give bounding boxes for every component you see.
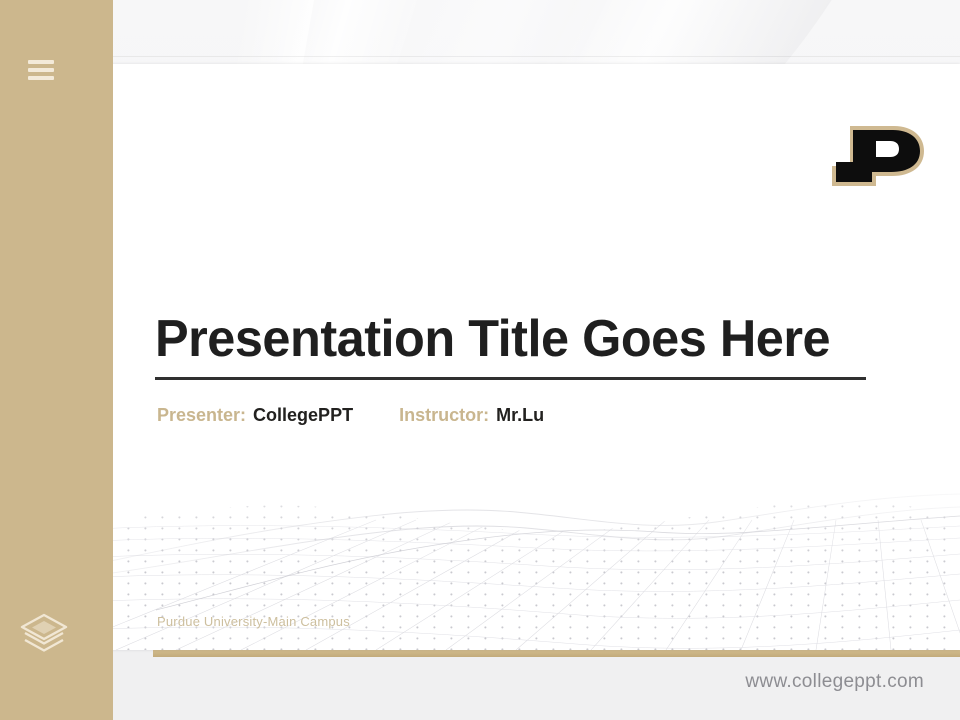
left-sidebar	[0, 0, 113, 720]
hamburger-bar-2	[28, 68, 54, 72]
presenter-label: Presenter:	[157, 405, 246, 426]
layers-stack-icon[interactable]	[18, 610, 70, 658]
title-underline	[155, 377, 866, 380]
purdue-p-logo	[820, 120, 930, 192]
hamburger-bar-3	[28, 76, 54, 80]
campus-note: Purdue University-Main Campus	[157, 614, 350, 629]
presenter-value: CollegePPT	[253, 405, 353, 426]
instructor-value: Mr.Lu	[496, 405, 544, 426]
hamburger-bar-1	[28, 60, 54, 64]
hamburger-menu-icon[interactable]	[28, 60, 54, 80]
page-title: Presentation Title Goes Here	[155, 309, 892, 369]
instructor-label: Instructor:	[399, 405, 489, 426]
slide-meta-row: Presenter: CollegePPT Instructor: Mr.Lu	[157, 405, 544, 426]
screenshot-stage: Presentation Title Goes Here Presenter: …	[0, 0, 960, 720]
gold-accent-bar	[153, 650, 960, 657]
site-watermark: www.collegeppt.com	[745, 671, 924, 693]
presentation-slide[interactable]: Presentation Title Goes Here Presenter: …	[76, 64, 960, 650]
background-hairline	[113, 56, 960, 57]
